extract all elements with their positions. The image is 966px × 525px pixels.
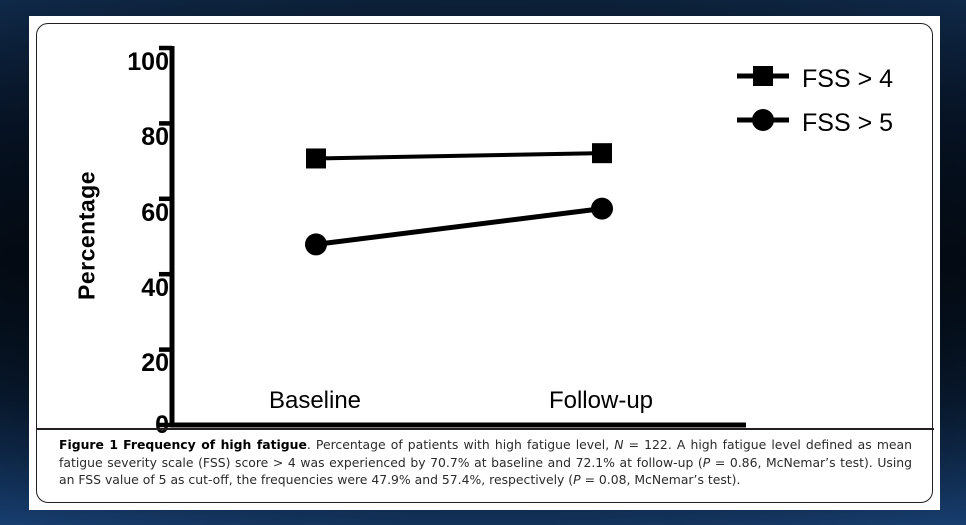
data-point-fss5-baseline [305, 233, 327, 255]
caption-n-symbol: N [614, 437, 623, 452]
chart-plot-area: Percentage 100 80 60 40 20 0 Baseline Fo… [37, 24, 934, 428]
data-point-fss4-baseline [306, 148, 326, 168]
axis-lines [170, 46, 746, 427]
legend-marker-fss-5 [737, 109, 789, 131]
caption-divider [37, 428, 934, 430]
caption-body-1: . Percentage of patients with high fatig… [307, 437, 614, 452]
figure-caption: Figure 1 Frequency of high fatigue. Perc… [37, 428, 934, 504]
data-point-fss5-followup [591, 198, 613, 220]
series-fss-gt-4 [306, 143, 612, 168]
figure-panel: Percentage 100 80 60 40 20 0 Baseline Fo… [36, 23, 933, 503]
chart-svg [37, 24, 934, 428]
figure-card: Percentage 100 80 60 40 20 0 Baseline Fo… [29, 16, 940, 510]
legend-marker-fss-4 [737, 66, 789, 86]
caption-p-symbol-2: P [573, 472, 580, 487]
caption-figure-label: Figure 1 [59, 437, 118, 452]
data-point-fss4-followup [592, 143, 612, 163]
caption-figure-title: Frequency of high fatigue [123, 437, 307, 452]
series-fss-gt-5 [305, 198, 613, 256]
caption-body-4: = 0.08, McNemar’s test). [581, 472, 741, 487]
caption-text: Figure 1 Frequency of high fatigue. Perc… [59, 436, 912, 489]
